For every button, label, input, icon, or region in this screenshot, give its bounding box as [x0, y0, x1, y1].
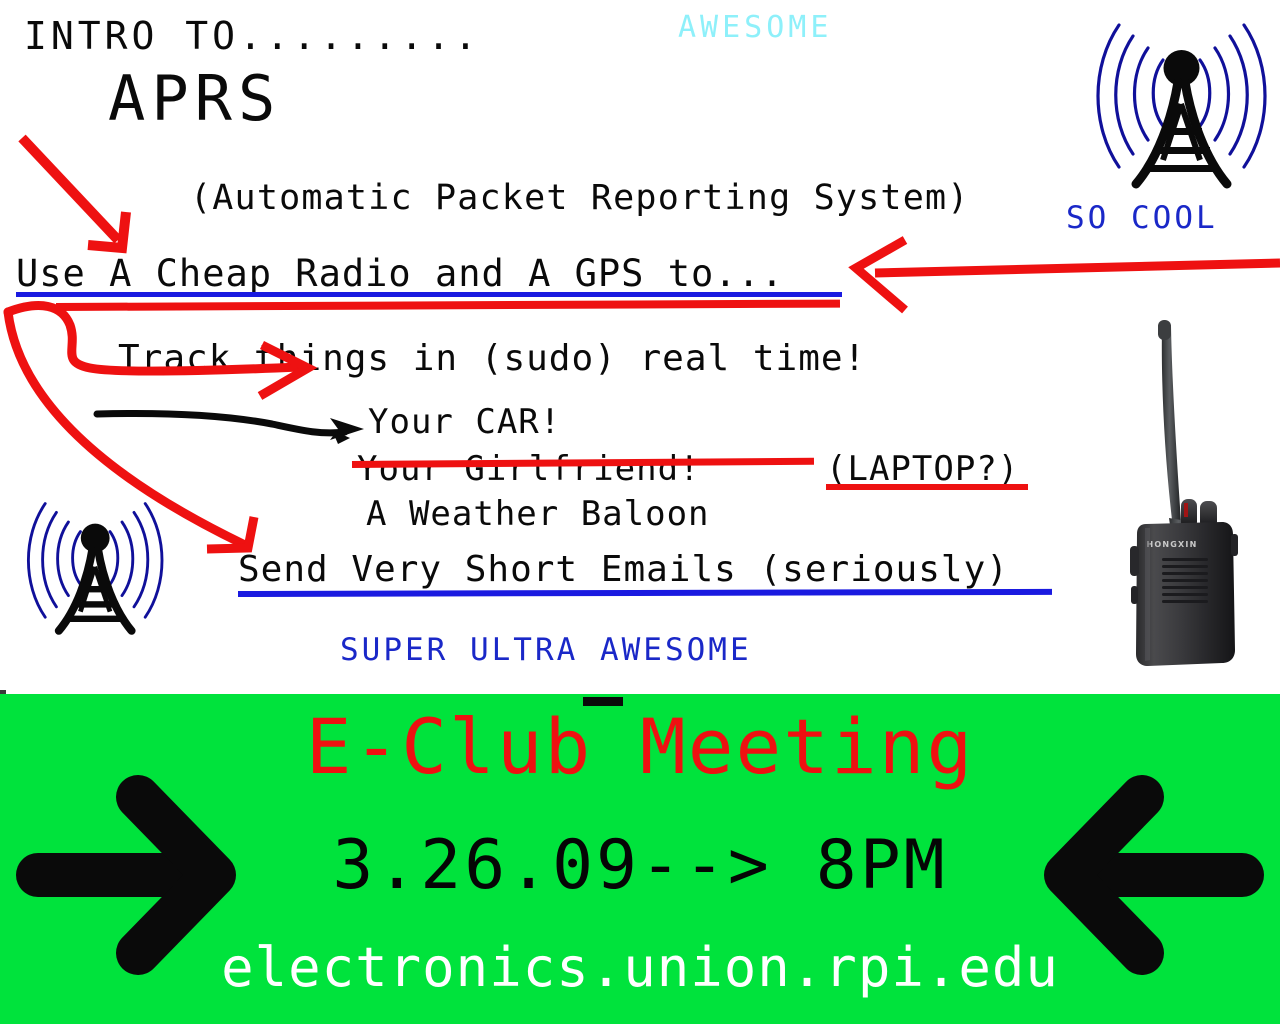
lead-line-blue-underline [16, 292, 842, 297]
black-arrow-icon [97, 413, 364, 444]
so-cool-tag: SO COOL [1066, 200, 1218, 236]
red-arrow-icon [856, 240, 1280, 310]
headline-prefix: INTRO TO......... [24, 14, 481, 58]
radio-tower-icon [1098, 25, 1265, 184]
banner-website: electronics.union.rpi.edu [0, 936, 1280, 999]
edge-speck [0, 690, 6, 694]
banner-title: E-Club Meeting [0, 702, 1280, 791]
lead-line-red-underline [56, 300, 840, 311]
laptop-note-underline [826, 484, 1028, 490]
page-title: APRS [108, 62, 281, 135]
track-line: Track things in (sudo) real time! [118, 338, 866, 379]
acronym-expansion: (Automatic Packet Reporting System) [190, 178, 970, 218]
email-line-blue-underline [238, 589, 1052, 597]
laptop-note: (LAPTOP?) [826, 449, 1019, 489]
handheld-radio-photo: HONGXIN [1130, 320, 1238, 666]
poster-canvas: INTRO TO......... APRS AWESOME (Automati… [0, 0, 1280, 1024]
list-item: A Weather Baloon [366, 494, 710, 534]
svg-text:HONGXIN: HONGXIN [1147, 540, 1198, 549]
list-item: Your CAR! [368, 402, 561, 442]
list-item: Your Girlfriend! [357, 449, 701, 489]
red-arrow-icon [22, 138, 126, 248]
banner-date-time: 3.26.09--> 8PM [0, 826, 1280, 905]
radio-tower-icon [28, 504, 162, 631]
awesome-tag: AWESOME [678, 10, 832, 45]
email-line: Send Very Short Emails (seriously) [238, 549, 1009, 590]
lead-line: Use A Cheap Radio and A GPS to... [16, 252, 784, 295]
super-ultra-tag: SUPER ULTRA AWESOME [340, 632, 752, 668]
